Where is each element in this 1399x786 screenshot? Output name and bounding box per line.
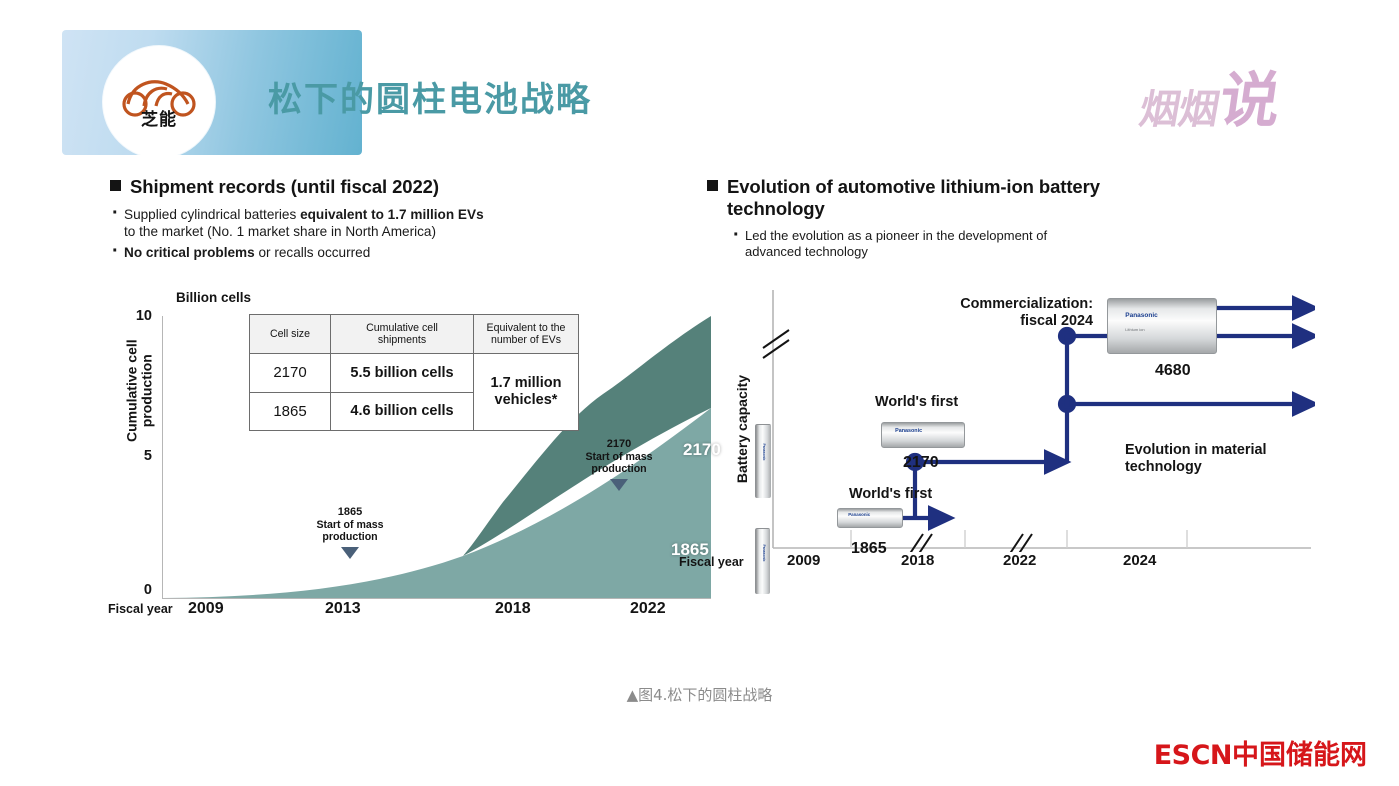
- cell-size-2170: 2170: [250, 354, 331, 392]
- note-commercialization-line2: fiscal 2024: [907, 313, 1093, 330]
- right-bullet1-line2: advanced technology: [745, 244, 868, 259]
- right-heading-line1: Evolution of automotive lithium-ion batt…: [727, 176, 1100, 197]
- battery-evolution-chart: Battery capacity: [717, 286, 1327, 606]
- annotation-2170: 2170 Start of mass production: [559, 438, 679, 491]
- left-heading-text: Shipment records (until fiscal 2022): [130, 176, 439, 197]
- panasonic-brand-text: Panasonic: [1125, 312, 1158, 319]
- right-heading-line2: technology: [707, 198, 825, 219]
- y-tick-0: 0: [126, 582, 152, 598]
- note-evolution-material: Evolution in material technology: [1125, 442, 1267, 476]
- x-axis-left: Fiscal year 2009 2013 2018 2022: [110, 600, 720, 624]
- page-title: 松下的圆柱电池战略: [268, 72, 592, 121]
- annotation-2170-line1: Start of mass: [559, 451, 679, 463]
- table-header-cell-size: Cell size: [250, 315, 331, 354]
- x-axis-title: Fiscal year: [108, 602, 173, 616]
- cell-size-1865: 1865: [250, 392, 331, 430]
- battery-cell-1865-image: Panasonic: [837, 508, 901, 526]
- annotation-2170-line2: production: [559, 463, 679, 475]
- table-row: 2170 5.5 billion cells 1.7 millionvehicl…: [250, 354, 579, 392]
- annotation-2170-title: 2170: [559, 438, 679, 451]
- right-bullet1-line1: Led the evolution as a pioneer in the de…: [745, 228, 1047, 243]
- footer-escn-text: ESCN: [1154, 740, 1232, 771]
- battery-subtext: Lithium ion: [1125, 327, 1144, 332]
- cell-label-2170: 2170: [903, 454, 939, 472]
- shipments-2170: 5.5 billion cells: [331, 354, 474, 392]
- panasonic-brand-text: Panasonic: [895, 428, 922, 434]
- bullet1-line2: to the market (No. 1 market share in Nor…: [124, 224, 436, 239]
- series-label-2170: 2170: [683, 440, 721, 460]
- panasonic-brand-text: Panasonic: [848, 512, 870, 517]
- y-axis-title: Cumulative cellproduction: [124, 306, 153, 476]
- bullet1-bold: equivalent to 1.7 million EVs: [300, 207, 484, 222]
- site-footer-logo: ESCN中国储能网: [1154, 733, 1367, 772]
- marker-triangle-icon: [341, 547, 359, 559]
- battery-cell-2170-image: Panasonic: [881, 422, 963, 446]
- note-commercialization: Commercialization: fiscal 2024: [907, 296, 1093, 330]
- left-panel-heading: Shipment records (until fiscal 2022): [110, 176, 720, 198]
- slide-content: Shipment records (until fiscal 2022) Sup…: [62, 176, 1337, 646]
- right-panel: Evolution of automotive lithium-ion batt…: [707, 176, 1327, 264]
- x-tick-2009: 2009: [787, 552, 820, 569]
- shipment-records-table: Cell size Cumulative cellshipments Equiv…: [249, 314, 579, 431]
- note-evolution-line2: technology: [1125, 459, 1267, 476]
- list-item: Led the evolution as a pioneer in the de…: [729, 228, 1327, 261]
- annotation-1865-title: 1865: [286, 506, 414, 519]
- figure-caption: ▲图4.松下的圆柱战略: [0, 684, 1399, 705]
- cumulative-production-chart: Billion cells 10 5 0 Cumulative cellprod…: [110, 294, 720, 604]
- left-panel: Shipment records (until fiscal 2022) Sup…: [110, 176, 720, 264]
- table-header-cell-shipments: Cumulative cellshipments: [331, 315, 474, 354]
- note-commercialization-line1: Commercialization:: [907, 296, 1093, 313]
- x-tick-2018: 2018: [495, 600, 531, 618]
- brand-watermark-part2: 说: [1216, 73, 1281, 130]
- equivalent-evs-value: 1.7 millionvehicles*: [474, 354, 579, 431]
- x-axis-right: Fiscal year 2009 2018 2022 2024: [679, 552, 1319, 576]
- cell-label-4680: 4680: [1155, 362, 1191, 380]
- note-worlds-first-2170: World's first: [875, 394, 958, 411]
- x-tick-2009: 2009: [188, 600, 224, 618]
- x-tick-2018: 2018: [901, 552, 934, 569]
- annotation-1865-line1: Start of mass: [286, 519, 414, 531]
- brand-watermark-part1: 烟烟: [1136, 90, 1221, 130]
- x-tick-2022: 2022: [630, 600, 666, 618]
- brand-watermark: 烟烟 说: [1140, 58, 1277, 130]
- slide-page: 芝能 松下的圆柱电池战略 烟烟 说 Shipment records (unti…: [0, 0, 1399, 786]
- table-header-cell-evs: Equivalent to thenumber of EVs: [474, 315, 579, 354]
- right-chart-plot-area: Commercialization: fiscal 2024 World's f…: [755, 290, 1315, 548]
- shipments-1865: 4.6 billion cells: [331, 392, 474, 430]
- x-tick-2022: 2022: [1003, 552, 1036, 569]
- note-evolution-line1: Evolution in material: [1125, 442, 1267, 459]
- battery-cell-4680-image: Panasonic Lithium ion: [1107, 298, 1215, 352]
- note-worlds-first-1865: World's first: [849, 486, 932, 503]
- bullet1-pre: Supplied cylindrical batteries: [124, 207, 300, 222]
- list-item: No critical problems or recalls occurred: [110, 244, 720, 261]
- right-panel-bullets: Led the evolution as a pioneer in the de…: [729, 228, 1327, 261]
- right-y-axis-title: Battery capacity: [734, 339, 750, 519]
- marker-triangle-icon: [610, 479, 628, 491]
- annotation-1865-line2: production: [286, 531, 414, 543]
- x-tick-2024: 2024: [1123, 552, 1156, 569]
- brand-logo: 芝能: [103, 46, 215, 158]
- table-header-row: Cell size Cumulative cellshipments Equiv…: [250, 315, 579, 354]
- bullet2-bold: No critical problems: [124, 245, 255, 260]
- x-tick-2013: 2013: [325, 600, 361, 618]
- bullet-square-icon: [110, 180, 121, 191]
- annotation-1865: 1865 Start of mass production: [286, 506, 414, 559]
- logo-text: 芝能: [141, 112, 177, 129]
- y-axis-unit-label: Billion cells: [176, 290, 251, 305]
- left-panel-bullets: Supplied cylindrical batteries equivalen…: [110, 206, 720, 261]
- list-item: Supplied cylindrical batteries equivalen…: [110, 206, 720, 241]
- bullet2-post: or recalls occurred: [255, 245, 371, 260]
- right-panel-heading: Evolution of automotive lithium-ion batt…: [707, 176, 1327, 220]
- bullet-square-icon: [707, 180, 718, 191]
- right-x-axis-title: Fiscal year: [679, 555, 744, 569]
- footer-cn-text: 中国储能网: [1232, 740, 1367, 771]
